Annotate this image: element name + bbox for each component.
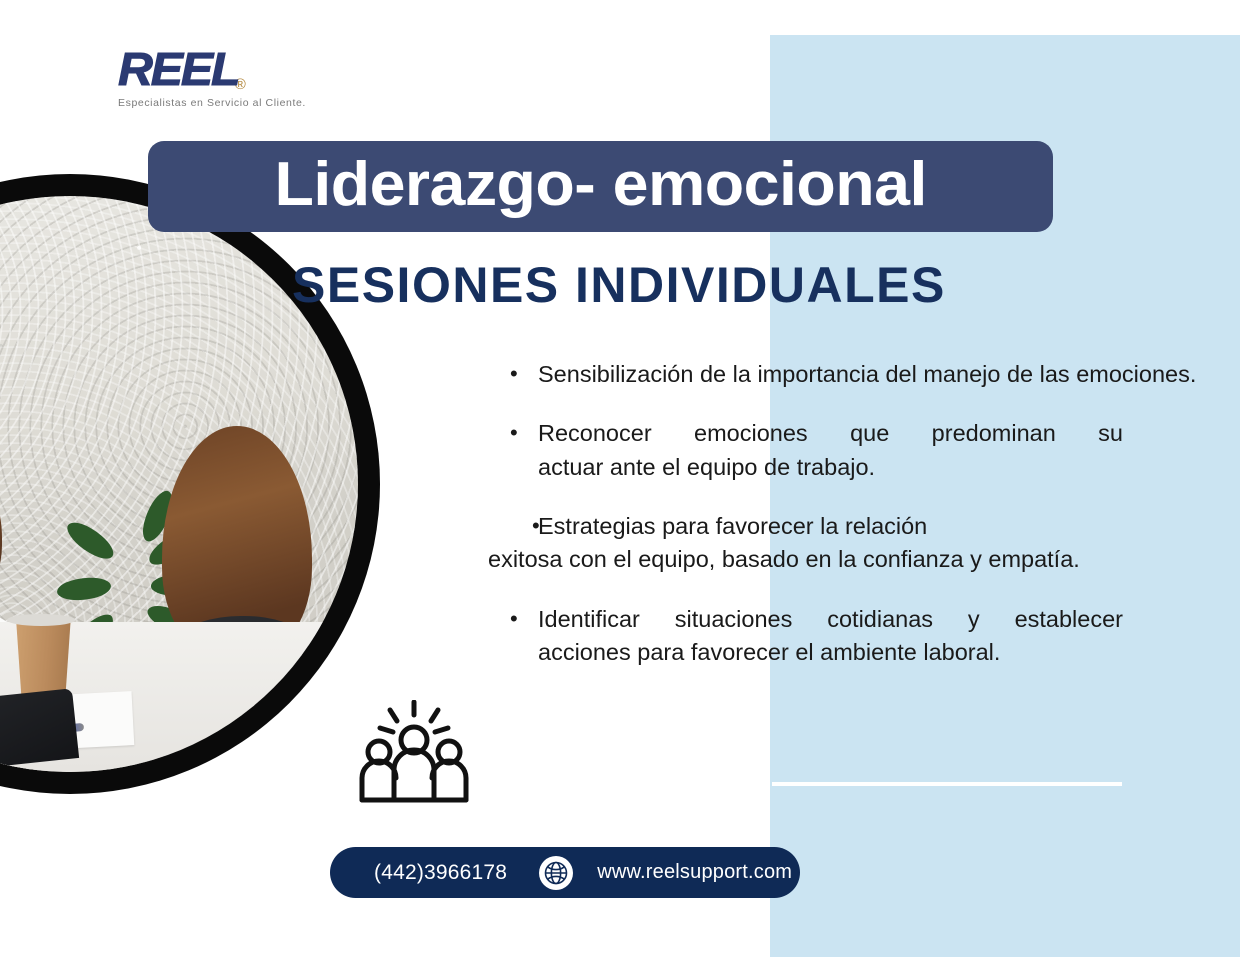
hair [0, 432, 2, 622]
list-item: • Sensibilización de la importancia del … [510, 358, 1200, 391]
bullet-marker-icon: • [510, 417, 538, 484]
contact-bar[interactable]: (442)3966178 www.reelsupport.com [330, 847, 800, 898]
bullet-list: • Sensibilización de la importancia del … [510, 358, 1200, 696]
bullet-marker-icon: • [510, 358, 538, 391]
contact-phone[interactable]: (442)3966178 [374, 861, 507, 885]
poster-canvas: REEL® Especialistas en Servicio al Clien… [0, 0, 1240, 957]
panel-divider-line [772, 782, 1122, 786]
list-item-line: Identificar situaciones cotidianas y est… [538, 603, 1123, 636]
team-leadership-icon [358, 700, 470, 804]
brand-logo: REEL® Especialistas en Servicio al Clien… [118, 46, 388, 109]
list-item-line: Estrategias para favorecer la relación [538, 510, 1200, 543]
list-item-line: actuar ante el equipo de trabajo. [538, 451, 1200, 484]
list-item-line: exitosa con el equipo, basado en la conf… [488, 543, 1200, 576]
list-item-text: Reconocer emociones que predominan su ac… [538, 417, 1200, 484]
list-item-line: Reconocer emociones que predominan su [538, 417, 1123, 450]
list-item-line: acciones para favorecer el ambiente labo… [538, 636, 1200, 669]
globe-icon [539, 856, 573, 890]
logo-wordmark: REEL® [118, 46, 388, 93]
bullet-marker-icon: • [510, 603, 538, 670]
list-item-line: Sensibilización de la importancia del ma… [538, 361, 1070, 387]
logo-tagline: Especialistas en Servicio al Cliente. [118, 97, 388, 109]
list-item: • Reconocer emociones que predominan su … [510, 417, 1200, 484]
list-item: • Estrategias para favorecer la relación… [510, 510, 1200, 577]
contact-website[interactable]: www.reelsupport.com [597, 861, 792, 884]
list-item: • Identificar situaciones cotidianas y e… [510, 603, 1200, 670]
page-title: Liderazgo- emocional [274, 154, 926, 220]
logo-word-text: REEL [118, 46, 238, 92]
page-subtitle: SESIONES INDIVIDUALES [292, 256, 946, 314]
title-banner: Liderazgo- emocional [148, 141, 1053, 232]
list-item-line: emociones. [1076, 361, 1196, 387]
bullet-marker-icon: • [532, 510, 540, 541]
list-item-text: Sensibilización de la importancia del ma… [538, 358, 1200, 391]
coffee-cup-rim [7, 614, 75, 626]
list-item-text: Identificar situaciones cotidianas y est… [538, 603, 1200, 670]
